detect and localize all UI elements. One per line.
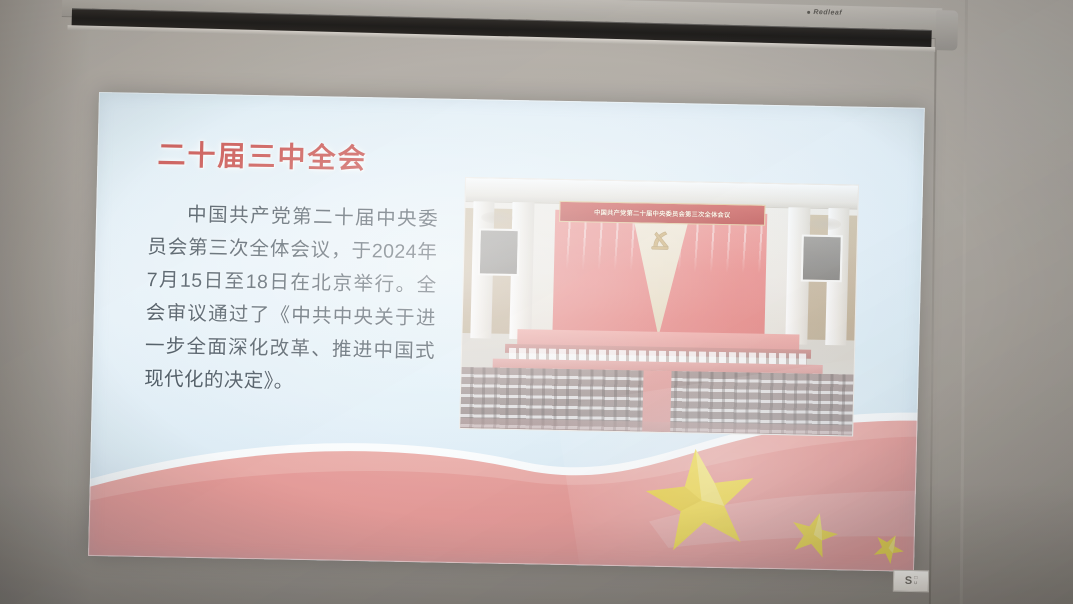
slide-title: 二十届三中全会 <box>157 133 368 177</box>
star-small-icon <box>869 528 909 567</box>
brand-dot-icon <box>807 11 810 14</box>
photo-wall-ornament-left <box>481 211 513 224</box>
wave-sheen <box>648 486 915 553</box>
wall-sticker: S □u <box>893 570 929 593</box>
star-medium-icon <box>786 507 842 560</box>
photo-conference-banner: 中国共产党第二十届中央委员会第三次全体会议 <box>559 201 765 226</box>
hammer-and-sickle-icon <box>648 227 674 255</box>
photo-side-screen-right <box>801 235 843 282</box>
wave-front <box>88 421 917 572</box>
powerpoint-slide: 二十届三中全会 中国共产党第二十届中央委员会第三次全体会议，于2024年7月15… <box>88 92 925 572</box>
casing-brand-label: Redleaf <box>807 9 842 17</box>
slide-body-text: 中国共产党第二十届中央委员会第三次全体会议，于2024年7月15日至18日在北京… <box>144 198 439 402</box>
sticker-subtext: □u <box>914 576 917 587</box>
brand-name: Redleaf <box>813 9 842 17</box>
sticker-glyph: S <box>905 575 913 586</box>
photo-side-screen-left <box>478 228 520 275</box>
star-group <box>639 441 918 569</box>
photo-wall-ornament-right <box>809 217 841 230</box>
room-photo-scene: Redleaf 二十届三中全会 中国共产党第二十届中央委员会第三次全体会议，于2… <box>0 0 1073 604</box>
star-large-icon <box>642 443 761 553</box>
slide-photo: 中国共产党第二十届中央委员会第三次全体会议 <box>459 177 859 436</box>
photo-banner-text: 中国共产党第二十届中央委员会第三次全体会议 <box>594 208 731 220</box>
casing-end-cap <box>935 10 958 51</box>
projection-screen[interactable]: 二十届三中全会 中国共产党第二十届中央委员会第三次全体会议，于2024年7月15… <box>88 92 925 572</box>
